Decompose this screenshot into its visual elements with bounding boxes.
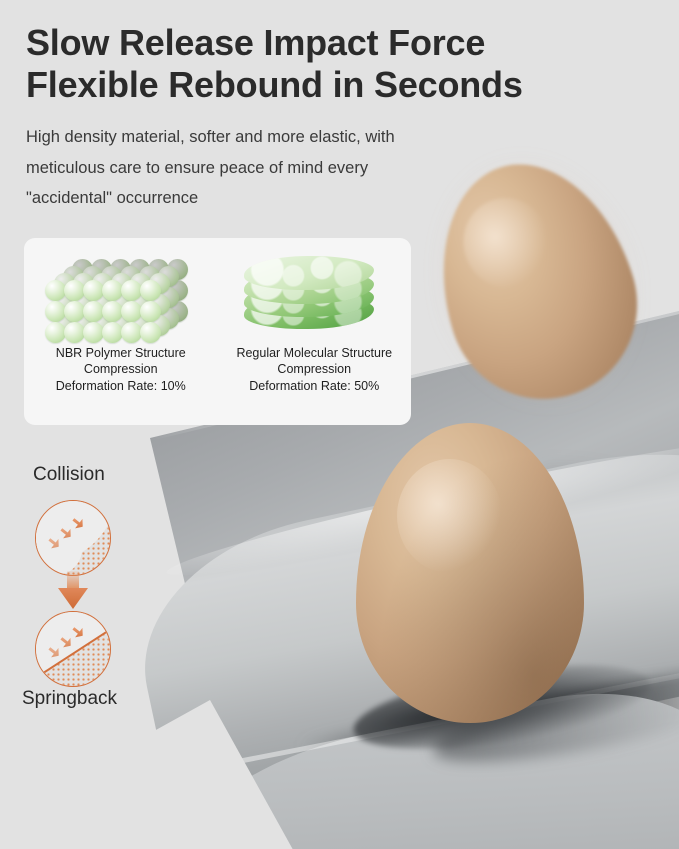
lattice-sphere — [121, 280, 142, 301]
nbr-metric-value: Deformation Rate: 10% — [56, 379, 186, 394]
regular-molecular-sheets-graphic — [234, 250, 394, 342]
product-feature-image: Slow Release Impact Force Flexible Rebou… — [0, 0, 679, 849]
regular-title: Regular Molecular Structure — [236, 346, 392, 360]
lattice-sphere — [102, 280, 123, 301]
springback-label: Springback — [22, 688, 117, 710]
regular-caption: Regular Molecular Structure Compression … — [236, 342, 392, 394]
lattice-sphere — [102, 301, 123, 322]
lattice-sphere — [45, 322, 66, 343]
lattice-sphere — [83, 301, 104, 322]
structure-comparison-card: NBR Polymer Structure Compression Deform… — [24, 238, 411, 425]
lattice-sphere — [64, 322, 85, 343]
lattice-sphere — [64, 301, 85, 322]
nbr-caption: NBR Polymer Structure Compression Deform… — [56, 342, 186, 394]
regular-metric-label: Compression — [236, 362, 392, 377]
lattice-sphere — [140, 322, 161, 343]
lattice-sphere — [121, 322, 142, 343]
nbr-title: NBR Polymer Structure — [56, 346, 186, 360]
card-column-regular: Regular Molecular Structure Compression … — [218, 238, 412, 425]
nbr-sphere-lattice-graphic — [41, 250, 201, 342]
collision-label: Collision — [33, 464, 105, 486]
lattice-sphere — [121, 301, 142, 322]
card-column-nbr: NBR Polymer Structure Compression Deform… — [24, 238, 218, 425]
lattice-sphere — [140, 280, 161, 301]
lattice-sphere — [102, 322, 123, 343]
lattice-sphere — [140, 301, 161, 322]
page-title: Slow Release Impact Force Flexible Rebou… — [26, 22, 626, 106]
down-arrow-icon — [58, 571, 88, 609]
lattice-sphere — [83, 280, 104, 301]
flat-surface-icon — [35, 611, 111, 687]
dented-surface-icon — [35, 500, 111, 576]
lattice-sphere — [45, 301, 66, 322]
page-subcopy: High density material, softer and more e… — [26, 122, 446, 214]
lattice-sphere — [45, 280, 66, 301]
lattice-sphere — [64, 280, 85, 301]
nbr-metric-label: Compression — [56, 362, 186, 377]
regular-metric-value: Deformation Rate: 50% — [236, 379, 392, 394]
lattice-sphere — [83, 322, 104, 343]
